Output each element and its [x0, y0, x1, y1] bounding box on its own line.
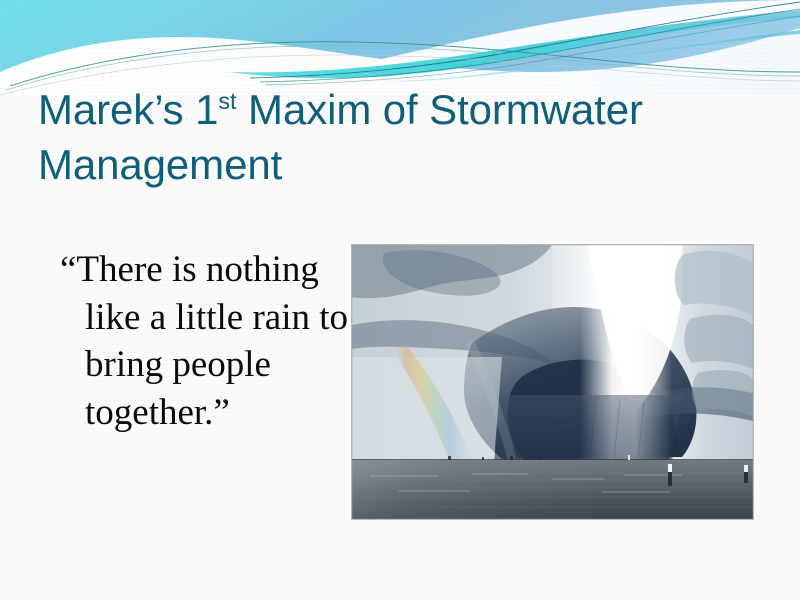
storm-photo — [352, 245, 753, 519]
presentation-slide: Marek’s 1st Maxim of Stormwater Manageme… — [0, 0, 800, 600]
slide-body-quote: “There is nothing like a little rain to … — [60, 246, 375, 437]
slide-header-banner-decoration — [0, 0, 800, 95]
photo-water-sheen — [352, 460, 592, 519]
photo-distant-light — [628, 455, 630, 460]
photo-cloud-right-2 — [684, 315, 753, 369]
photo-rain-shaft — [494, 395, 682, 461]
banner-swoosh-graphic — [0, 0, 800, 95]
title-text-before-superscript: Marek’s 1 — [38, 86, 218, 133]
photo-piling-left — [668, 464, 672, 486]
photo-piling-right — [744, 465, 748, 483]
title-ordinal-superscript: st — [218, 88, 236, 114]
storm-photo-graphic — [352, 245, 753, 519]
slide-title: Marek’s 1st Maxim of Stormwater Manageme… — [38, 82, 678, 193]
